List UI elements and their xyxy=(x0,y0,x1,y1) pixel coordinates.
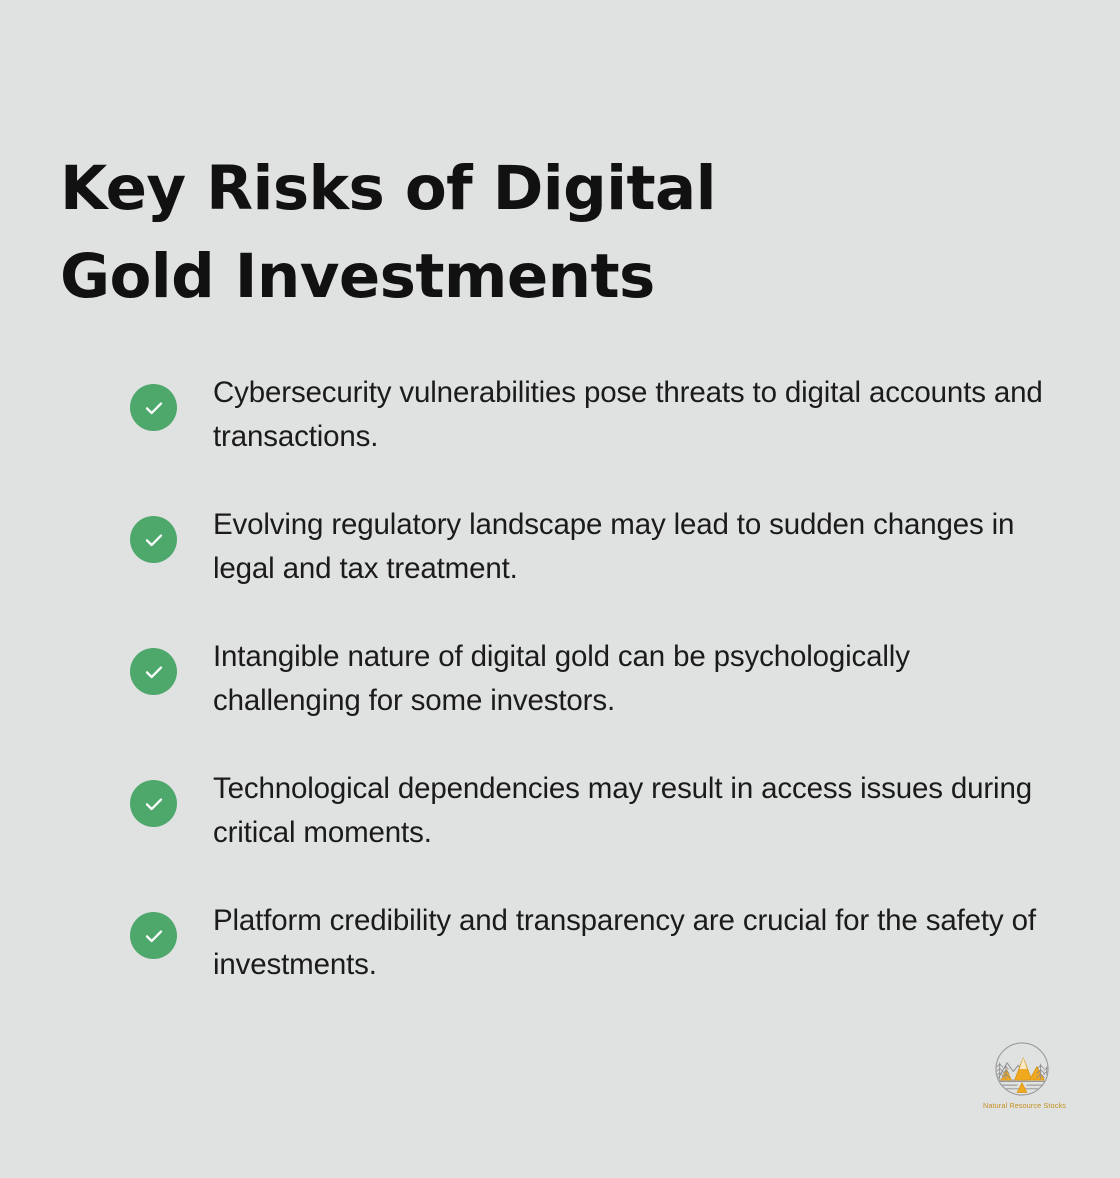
list-item: Technological dependencies may result in… xyxy=(130,767,1060,855)
check-circle-icon xyxy=(130,648,177,695)
check-circle-icon xyxy=(130,912,177,959)
list-item-label: Intangible nature of digital gold can be… xyxy=(213,635,1051,723)
list-item-label: Platform credibility and transparency ar… xyxy=(213,899,1051,987)
check-circle-icon xyxy=(130,780,177,827)
list-item: Intangible nature of digital gold can be… xyxy=(130,635,1060,723)
list-item-label: Evolving regulatory landscape may lead t… xyxy=(213,503,1051,591)
list-item: Platform credibility and transparency ar… xyxy=(130,899,1060,987)
logo-caption: Natural Resource Stocks xyxy=(983,1101,1061,1110)
list-item-label: Technological dependencies may result in… xyxy=(213,767,1051,855)
risk-list: Cybersecurity vulnerabilities pose threa… xyxy=(130,371,1060,987)
check-circle-icon xyxy=(130,516,177,563)
list-item-label: Cybersecurity vulnerabilities pose threa… xyxy=(213,371,1051,459)
slide-canvas: Key Risks of Digital Gold Investments Cy… xyxy=(0,0,1120,1178)
page-title: Key Risks of Digital Gold Investments xyxy=(60,145,890,321)
check-circle-icon xyxy=(130,384,177,431)
list-item: Evolving regulatory landscape may lead t… xyxy=(130,503,1060,591)
list-item: Cybersecurity vulnerabilities pose threa… xyxy=(130,371,1060,459)
natural-resource-stocks-emblem xyxy=(991,1038,1053,1100)
brand-logo: Natural Resource Stocks xyxy=(983,1038,1061,1110)
